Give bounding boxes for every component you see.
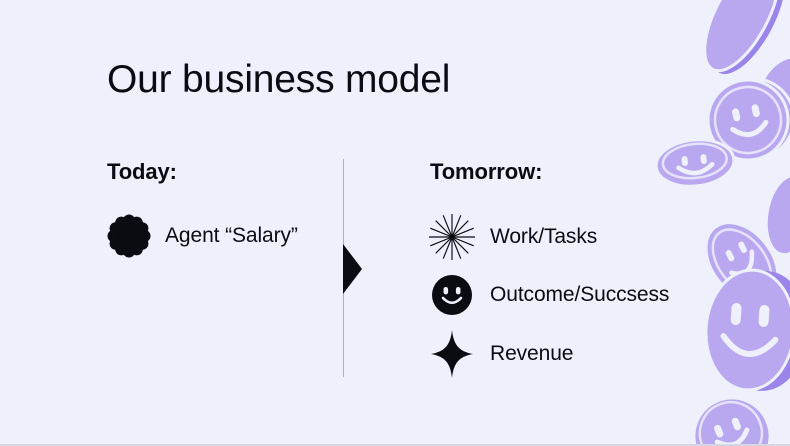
page-title: Our business model <box>107 58 450 102</box>
smiley-coin-decoration <box>654 136 736 190</box>
starburst-icon <box>426 213 478 261</box>
sparkle-icon <box>426 330 478 378</box>
list-item-label: Revenue <box>490 342 573 366</box>
list-item: Outcome/Succsess <box>426 271 669 319</box>
decoration-group <box>654 0 790 446</box>
slide-canvas: Our business model Today: <box>0 0 790 446</box>
smiley-coin-decoration <box>683 387 782 446</box>
tomorrow-column-heading: Tomorrow: <box>430 159 542 185</box>
smiley-coin-decoration <box>760 172 790 258</box>
smiley-icon <box>426 271 478 319</box>
list-item-label: Outcome/Succsess <box>490 283 669 307</box>
smiley-coin-decoration <box>690 0 790 85</box>
list-item: Revenue <box>426 330 573 378</box>
smiley-coin-decoration <box>702 267 790 394</box>
list-item: Agent “Salary” <box>103 212 298 260</box>
smiley-coin-decoration <box>701 71 790 167</box>
list-item-label: Work/Tasks <box>490 225 597 249</box>
smiley-coin-decoration <box>746 49 790 147</box>
flower-icon <box>103 212 155 260</box>
today-column-heading: Today: <box>107 159 177 185</box>
list-item: Work/Tasks <box>426 213 597 261</box>
smiley-coin-decoration <box>691 209 790 315</box>
list-item-label: Agent “Salary” <box>165 224 298 248</box>
arrow-right-triangle-icon <box>343 244 362 294</box>
